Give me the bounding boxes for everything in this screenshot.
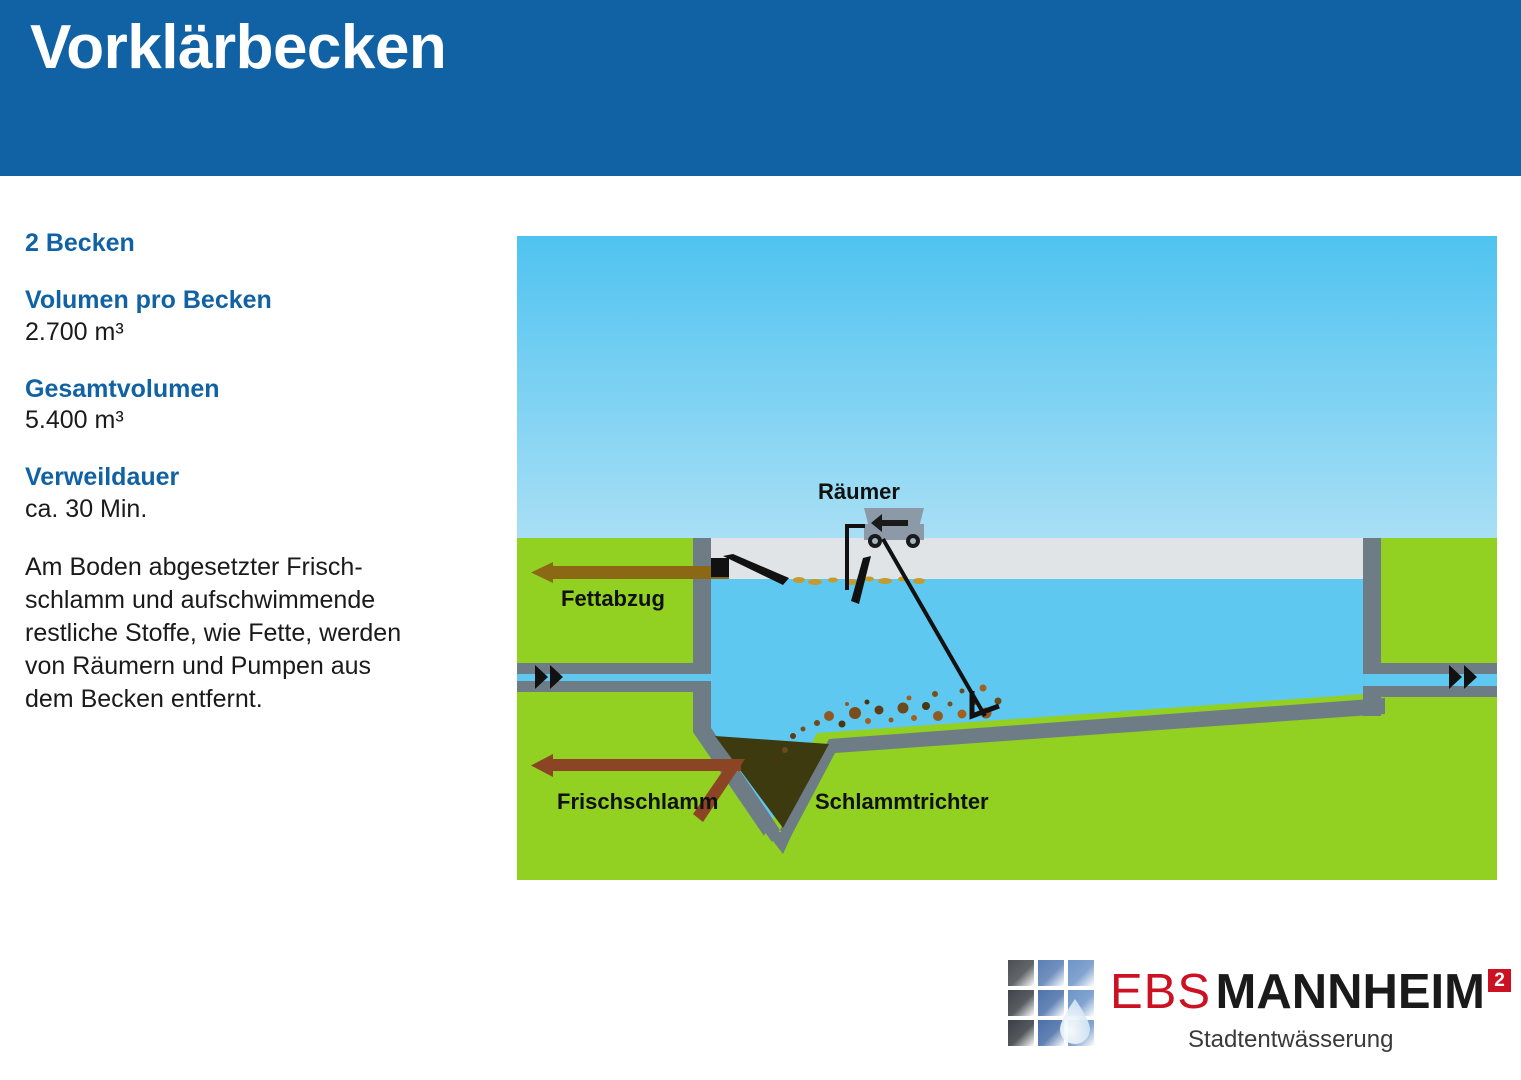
fact-label: Volumen pro Becken <box>25 285 485 316</box>
channel-left-ceiling <box>517 663 711 674</box>
page-title: Vorklärbecken <box>30 14 446 82</box>
channel-right-ceiling <box>1363 663 1497 674</box>
sky-background <box>517 236 1497 538</box>
fact-value: 2.700 m³ <box>25 317 485 348</box>
fact-total-volume: Gesamtvolumen 5.400 m³ <box>25 374 485 437</box>
logo-subtitle: Stadtentwässerung <box>1188 1026 1393 1054</box>
water-drop-icon <box>1058 998 1092 1044</box>
wall-left-upper <box>693 538 711 663</box>
ground-right-upper <box>1379 538 1497 663</box>
raeumer-label: Räumer <box>818 479 900 504</box>
logo-mannheim-text: MANNHEIM <box>1216 965 1485 1019</box>
fact-value: ca. 30 Min. <box>25 494 485 525</box>
ebs-mannheim-logo: EBS MANNHEIM2 Stadtentwässerung <box>1008 958 1498 1066</box>
fettabzug-label: Fettabzug <box>561 586 665 611</box>
wall-right-lower <box>1363 686 1381 716</box>
logo-cell <box>1008 1020 1034 1046</box>
fact-value: 5.400 m³ <box>25 405 485 436</box>
schlammtrichter-label: Schlammtrichter <box>815 789 989 814</box>
fact-label: Verweildauer <box>25 462 485 493</box>
fact-volume-per-basin: Volumen pro Becken 2.700 m³ <box>25 285 485 348</box>
logo-grid-mark <box>1008 960 1094 1046</box>
fact-retention-time: Verweildauer ca. 30 Min. <box>25 462 485 525</box>
logo-cell <box>1008 990 1034 1016</box>
sedimentation-tank-diagram: Fettabzug Räumer <box>517 236 1497 880</box>
logo-wordmark: EBS MANNHEIM2 <box>1110 964 1511 1020</box>
logo-cell <box>1008 960 1034 986</box>
logo-cell <box>1038 960 1064 986</box>
logo-ebs-text: EBS <box>1110 965 1211 1019</box>
frischschlamm-label: Frischschlamm <box>557 789 718 814</box>
fact-label: Gesamtvolumen <box>25 374 485 405</box>
info-column: 2 Becken Volumen pro Becken 2.700 m³ Ges… <box>25 228 485 716</box>
logo-superscript-badge: 2 <box>1488 969 1511 992</box>
channel-left-floor <box>517 681 693 692</box>
header-bar: Vorklärbecken <box>0 0 1521 176</box>
logo-cell <box>1068 960 1094 986</box>
ground-right-lower <box>1379 692 1497 880</box>
fact-basins: 2 Becken <box>25 228 485 259</box>
description-paragraph: Am Boden abgesetzter Frisch-schlamm und … <box>25 551 485 716</box>
fact-label: 2 Becken <box>25 228 485 259</box>
wall-right-upper <box>1363 538 1381 663</box>
